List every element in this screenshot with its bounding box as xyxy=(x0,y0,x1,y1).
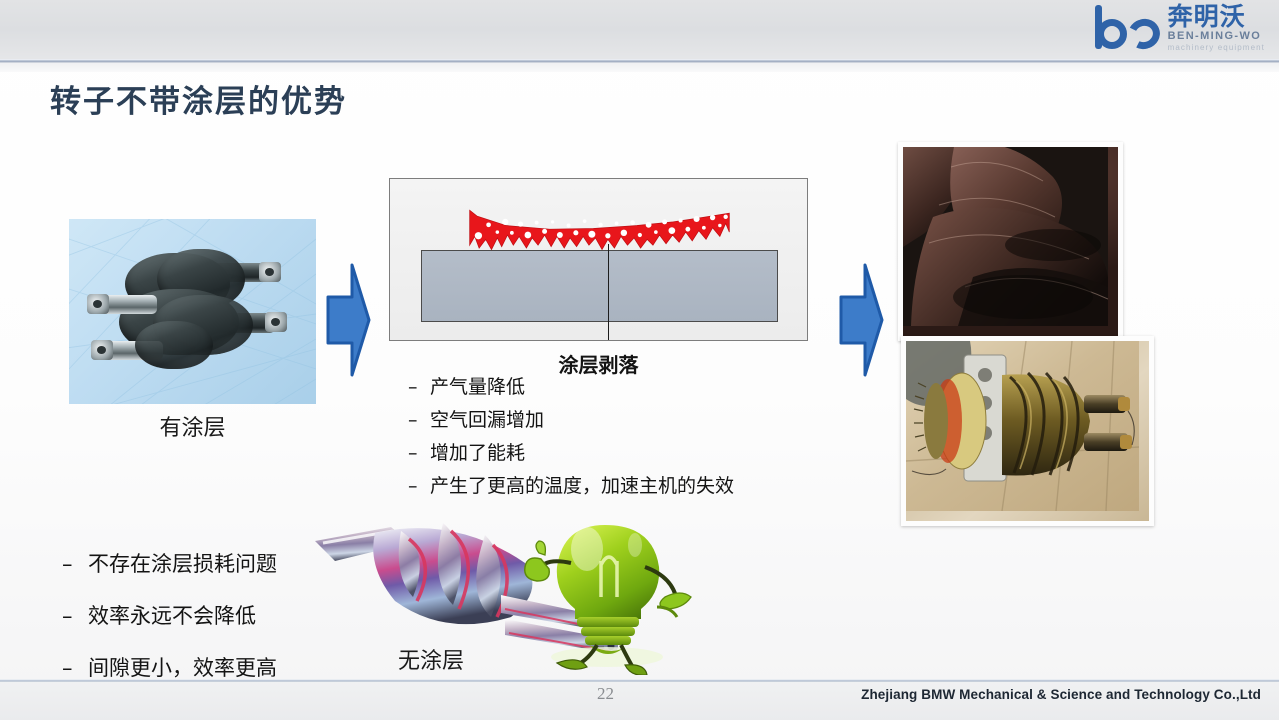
page-title: 转子不带涂层的优势 xyxy=(50,76,347,121)
rotor-assembly-illustration xyxy=(906,341,1139,511)
coated-rotor-photo xyxy=(69,219,316,404)
coated-rotor-illustration xyxy=(87,247,299,379)
list-item: –产生了更高的温度，加速主机的失效 xyxy=(408,471,734,498)
list-item: –增加了能耗 xyxy=(408,438,734,465)
logo-tagline: machinery equipment xyxy=(1168,43,1265,53)
list-item-text: 产生了更高的温度，加速主机的失效 xyxy=(430,471,734,498)
dash-marker: – xyxy=(408,442,430,464)
coating-delamination-diagram xyxy=(389,178,808,341)
company-logo: 奔明沃 BEN-MING-WO machinery equipment xyxy=(1092,3,1265,57)
list-item-text: 产气量降低 xyxy=(430,372,525,399)
chrome-rotor-and-bulb-illustration xyxy=(305,505,695,675)
diagram-leader-line xyxy=(608,244,609,341)
footer-company-name: Zhejiang BMW Mechanical & Science and Te… xyxy=(861,687,1261,702)
list-item: –效率永远不会降低 xyxy=(62,600,277,630)
dash-marker: – xyxy=(408,475,430,497)
list-item: –间隙更小，效率更高 xyxy=(62,652,277,682)
list-item-text: 增加了能耗 xyxy=(430,438,525,465)
worn-rotor-illustration xyxy=(903,147,1108,326)
logo-english-name: BEN-MING-WO xyxy=(1168,30,1262,43)
dash-marker: – xyxy=(408,376,430,398)
coating-layer xyxy=(421,203,778,283)
dash-marker: – xyxy=(62,656,88,680)
header-divider-shadow xyxy=(0,63,1279,72)
arrow-left-to-diagram xyxy=(325,261,371,379)
list-item-text: 不存在涂层损耗问题 xyxy=(88,548,277,578)
uncoated-rotor-graphic xyxy=(305,505,695,675)
list-item-text: 空气回漏增加 xyxy=(430,405,544,432)
coating-problems-list: –产气量降低 –空气回漏增加 –增加了能耗 –产生了更高的温度，加速主机的失效 xyxy=(408,372,734,504)
arrow-diagram-to-photos xyxy=(838,261,884,379)
damaged-rotor-assembly-photo xyxy=(901,336,1154,526)
list-item: –不存在涂层损耗问题 xyxy=(62,548,277,578)
list-item: –产气量降低 xyxy=(408,372,734,399)
dash-marker: – xyxy=(62,552,88,576)
logo-chinese-name: 奔明沃 xyxy=(1168,4,1246,30)
list-item: –空气回漏增加 xyxy=(408,405,734,432)
lightbulb-mascot-icon xyxy=(525,525,691,675)
dash-marker: – xyxy=(408,409,430,431)
list-item-text: 间隙更小，效率更高 xyxy=(88,652,277,682)
uncoated-rotor-caption: 无涂层 xyxy=(398,643,464,675)
worn-rotor-closeup-photo xyxy=(898,142,1123,341)
dash-marker: – xyxy=(62,604,88,628)
slide: 奔明沃 BEN-MING-WO machinery equipment 转子不带… xyxy=(0,0,1279,720)
list-item-text: 效率永远不会降低 xyxy=(88,600,256,630)
slide-header xyxy=(0,0,1279,62)
bo-monogram-icon xyxy=(1092,5,1166,51)
page-number: 22 xyxy=(597,684,614,704)
coated-rotor-caption: 有涂层 xyxy=(69,410,316,442)
